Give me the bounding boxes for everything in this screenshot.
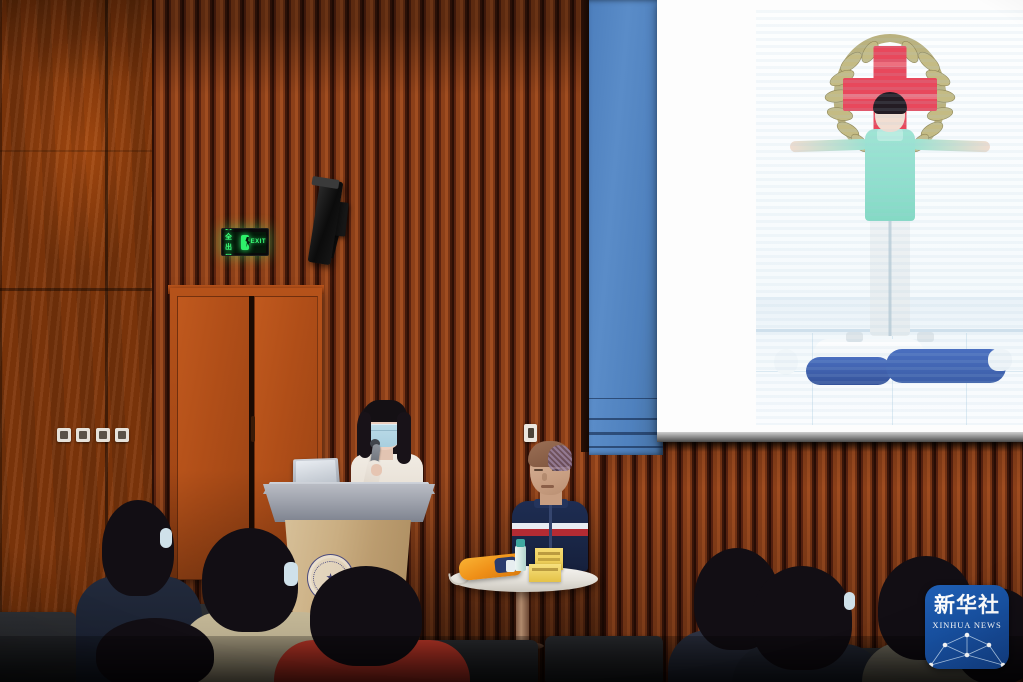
door-handle[interactable]	[251, 416, 255, 442]
presenter-hand	[371, 464, 382, 476]
photo-scene: 安全出口 EXIT	[0, 0, 1023, 682]
wall-outlet[interactable]	[524, 424, 537, 442]
projected-slide	[756, 10, 1023, 425]
attendee-hair	[102, 500, 174, 596]
light-switch-1[interactable]	[57, 428, 71, 442]
network-constellation-icon	[925, 631, 1009, 669]
small-bottle[interactable]	[506, 560, 515, 572]
light-switch-4[interactable]	[115, 428, 129, 442]
hand-sanitizer-bottle[interactable]	[515, 545, 526, 571]
emergency-exit-sign: 安全出口 EXIT	[221, 228, 269, 256]
watermark-chinese-label: 新华社	[925, 595, 1009, 616]
sanitizer-pump-cap[interactable]	[516, 539, 525, 547]
blue-acoustic-panel	[589, 0, 663, 455]
face-mask-icon	[160, 528, 172, 548]
watermark-english-label: XINHUA NEWS	[925, 620, 1009, 630]
foreground-shadow	[0, 636, 1023, 682]
face-mask-icon	[844, 592, 855, 610]
exit-sign-chinese-label: 安全出口	[225, 228, 239, 256]
supply-box-lower[interactable]	[529, 564, 561, 582]
exit-sign-english-label: EXIT	[251, 239, 266, 245]
projection-screen	[657, 0, 1023, 440]
presenter-instructor	[343, 398, 431, 492]
light-switch-3[interactable]	[96, 428, 110, 442]
manikin-hair-net	[548, 445, 572, 471]
projector-scanlines	[756, 10, 1023, 425]
light-switch-row[interactable]	[57, 428, 129, 444]
xinhua-news-watermark: 新华社 XINHUA NEWS	[925, 585, 1009, 669]
running-person-icon	[241, 235, 248, 250]
podium-top	[263, 484, 435, 522]
light-switch-2[interactable]	[76, 428, 90, 442]
screen-bottom-edge	[657, 432, 1023, 442]
